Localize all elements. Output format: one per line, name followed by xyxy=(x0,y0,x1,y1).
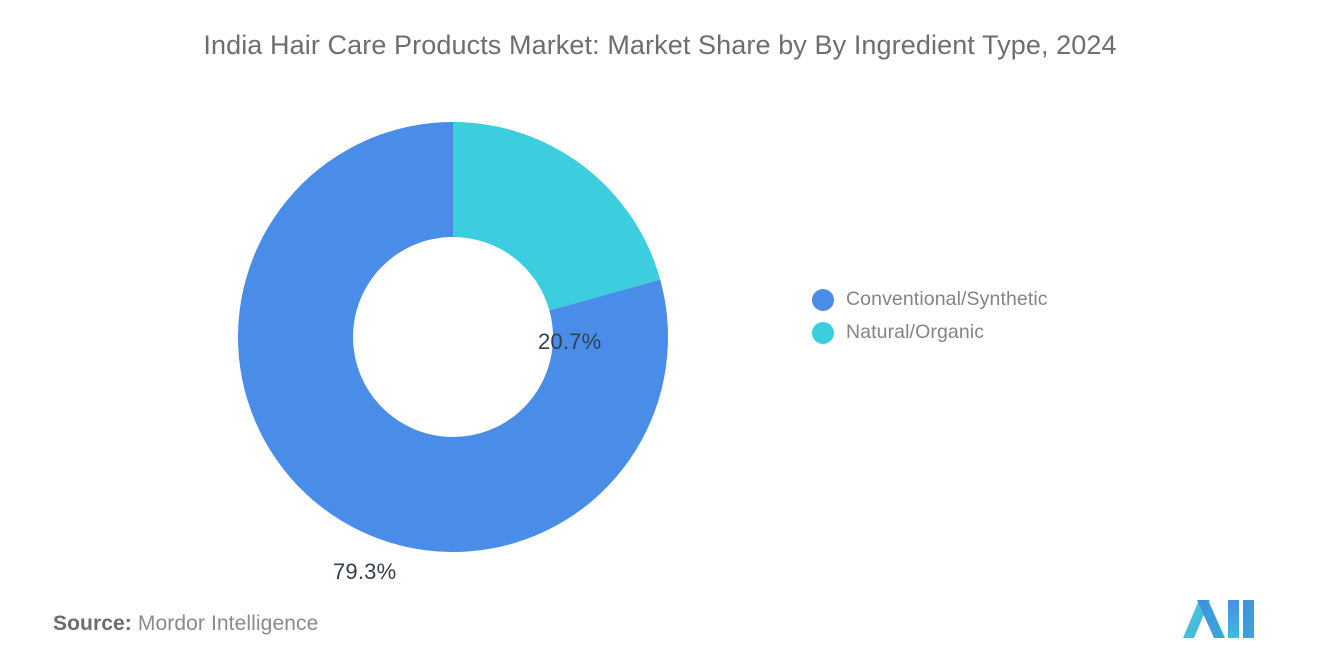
legend-item-natural-organic[interactable]: Natural/Organic xyxy=(812,316,1232,349)
slice-data-label-conventional-synthetic: 79.3% xyxy=(333,559,396,585)
source-label: Source: xyxy=(53,612,132,635)
source-name: Mordor Intelligence xyxy=(138,612,319,635)
source-attribution: Source:Mordor Intelligence xyxy=(53,612,318,636)
chart-title: India Hair Care Products Market: Market … xyxy=(0,30,1320,61)
legend-item-conventional-synthetic[interactable]: Conventional/Synthetic xyxy=(812,283,1232,316)
legend-swatch-circle-icon xyxy=(812,322,834,344)
mordor-intelligence-logo-icon xyxy=(1181,596,1261,640)
donut-chart-svg xyxy=(238,122,668,552)
slice-data-label-natural-organic: 20.7% xyxy=(538,329,601,355)
donut-chart: 20.7% 79.3% xyxy=(238,122,668,552)
legend-swatch-circle-icon xyxy=(812,289,834,311)
donut-slice-natural-organic[interactable] xyxy=(453,122,660,310)
logo-mark-svg xyxy=(1181,596,1261,640)
legend-label-conventional-synthetic: Conventional/Synthetic xyxy=(846,288,1048,311)
legend-label-natural-organic: Natural/Organic xyxy=(846,321,984,344)
chart-legend: Conventional/Synthetic Natural/Organic xyxy=(812,283,1232,349)
chart-canvas: India Hair Care Products Market: Market … xyxy=(0,0,1320,665)
